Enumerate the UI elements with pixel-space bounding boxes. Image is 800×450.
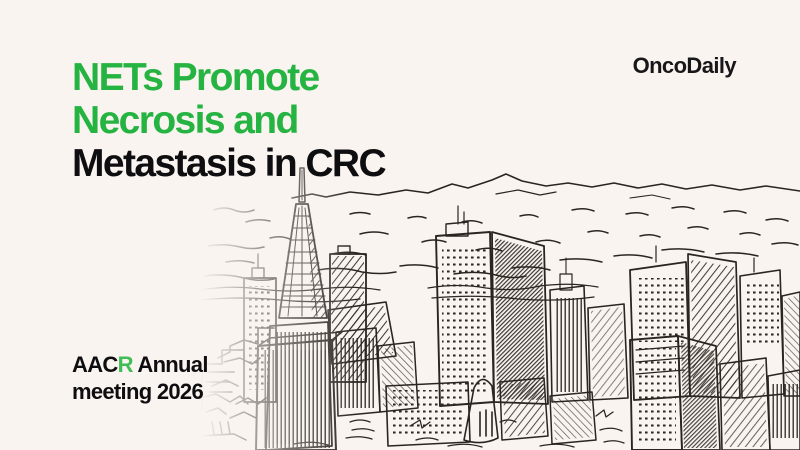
san-francisco-skyline-illustration — [200, 150, 800, 450]
event-name-prefix: AAC — [72, 352, 118, 377]
headline-line-1: NETs Promote — [72, 56, 385, 99]
event-info: AACR Annual meeting 2026 — [72, 351, 208, 405]
event-name-accent-letter: R — [118, 352, 133, 377]
event-line-1: AACR Annual — [72, 351, 208, 378]
headline-line-2: Necrosis and — [72, 99, 385, 142]
event-line-2: meeting 2026 — [72, 378, 208, 405]
promo-card: OncoDaily NETs Promote Necrosis and Meta… — [0, 0, 800, 450]
headline-line-3: Metastasis in CRC — [72, 142, 385, 185]
oncodaily-logo[interactable]: OncoDaily — [633, 55, 736, 77]
page-title: NETs Promote Necrosis and Metastasis in … — [72, 56, 385, 185]
event-name-suffix: Annual — [133, 352, 208, 377]
